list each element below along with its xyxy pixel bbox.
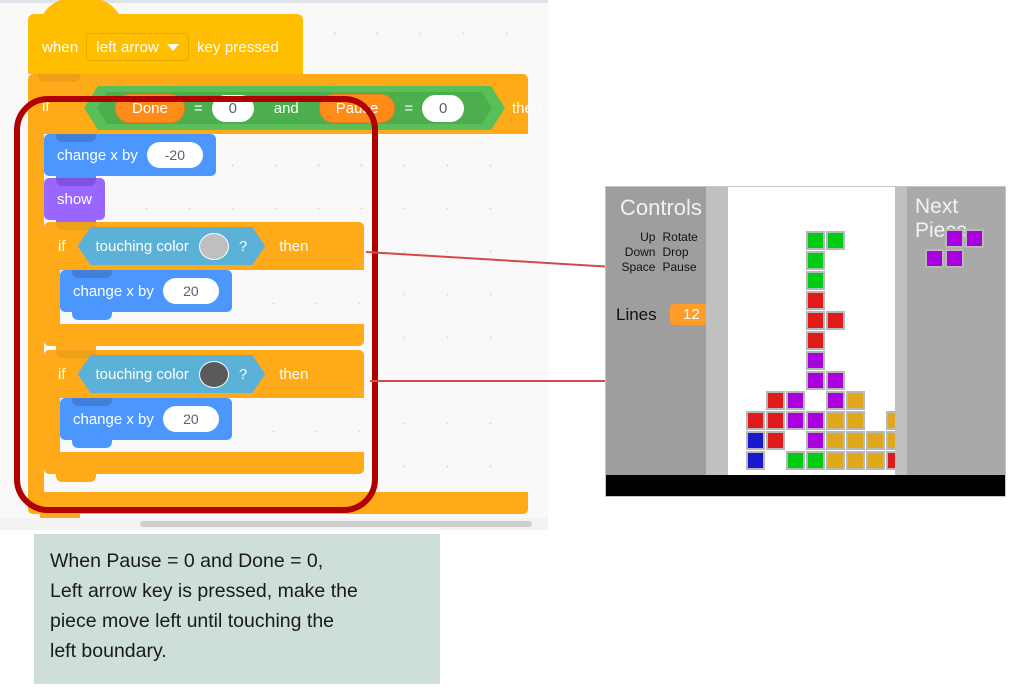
hat-block-cap [38,0,124,32]
board-right-wall [895,187,907,477]
variable-pause[interactable]: Pause [319,94,396,123]
looks-block-show[interactable]: show [44,178,105,220]
motion-block-change-x-2[interactable]: change x by 20 [60,270,232,312]
tetris-cell [786,391,805,410]
caption-line-4: left boundary. [50,636,424,666]
key-pressed-label: key pressed [197,39,279,56]
tetris-cell [826,231,845,250]
next-piece-preview [925,229,995,279]
tetris-cell [866,451,885,470]
caption-box: When Pause = 0 and Done = 0, Left arrow … [34,534,440,684]
touching-color-label-2: touching color [96,366,189,383]
block-notch [72,270,112,278]
tetris-cell [746,431,765,450]
block-notch [38,74,80,82]
motion-block-change-x-1[interactable]: change x by -20 [44,134,216,176]
equals-block-done[interactable]: Done = 0 [101,92,268,124]
tetris-cell [806,291,825,310]
control-key: Down [614,245,662,260]
equals-block-pause[interactable]: Pause = 0 [305,92,478,124]
tetris-cell [766,411,785,430]
tetris-cell [806,231,825,250]
inner-if-label-2: if [44,366,78,383]
caption-line-1: When Pause = 0 and Done = 0, [50,546,424,576]
tetris-cell [806,411,825,430]
next-piece-cell [925,249,944,268]
change-x-label-2: change x by [73,283,154,300]
question-mark-1: ? [239,238,247,255]
block-notch [56,134,96,142]
tetris-cell [806,331,825,350]
chevron-down-icon [167,44,179,51]
control-action: Drop [662,245,702,260]
tetris-cell [806,351,825,370]
operator-equals-left: = [194,100,203,117]
tetris-cell [826,371,845,390]
tetris-cell [806,431,825,450]
control-key: Up [614,230,662,245]
tetris-cell [826,451,845,470]
game-right-sidebar: Next Piece [907,187,1005,477]
tetris-cell [846,451,865,470]
tetris-cell [806,311,825,330]
motion-block-change-x-3[interactable]: change x by 20 [60,398,232,440]
tetris-cell [846,391,865,410]
if-then-block-inner-2[interactable]: if touching color ? then change x by 20 [44,350,364,474]
block-notch [56,178,96,186]
and-label: and [268,100,305,117]
sensing-touching-color-1[interactable]: touching color ? [78,227,266,265]
value-pause[interactable]: 0 [422,95,464,122]
if-then-block-outer[interactable]: if Done = 0 and Pause = 0 [28,74,528,514]
board-floor [606,475,1005,496]
next-piece-cell [965,229,984,248]
tetris-cell [786,411,805,430]
change-x-label-1: change x by [57,147,138,164]
control-row: Down Drop [614,245,702,260]
tetris-cell [746,411,765,430]
tetris-cell [826,431,845,450]
block-tab [72,311,112,320]
change-x-value-1[interactable]: -20 [147,142,203,168]
block-notch [72,398,112,406]
tetris-cell [786,451,805,470]
controls-list: Up Rotate Down Drop Space Pause [614,230,702,275]
change-x-value-3[interactable]: 20 [163,406,219,432]
lines-label: Lines [616,305,657,325]
control-row: Space Pause [614,260,702,275]
tetris-cell [826,311,845,330]
variable-done[interactable]: Done [115,94,185,123]
change-x-label-3: change x by [73,411,154,428]
horizontal-scrollbar-track[interactable] [0,518,548,530]
tetris-cell [846,411,865,430]
horizontal-scrollbar-thumb[interactable] [140,521,532,527]
control-row: Up Rotate [614,230,702,245]
if-then-block-inner-1[interactable]: if touching color ? then change x by 20 [44,222,364,346]
caption-line-2: Left arrow key is pressed, make the [50,576,424,606]
tetris-cell [806,371,825,390]
tetris-cell [746,451,765,470]
game-left-sidebar: Controls Up Rotate Down Drop Space Pause… [606,187,706,496]
control-key: Space [614,260,662,275]
outer-if-label: if [28,98,62,115]
block-tab [56,473,96,482]
caption-line-3: piece move left until touching the [50,606,424,636]
next-piece-cell [945,229,964,248]
next-piece-cell [945,249,964,268]
tetris-cell [826,391,845,410]
touching-color-label-1: touching color [96,238,189,255]
hat-block-when-key-pressed[interactable]: when left arrow key pressed [28,14,303,74]
board-left-wall [706,187,728,477]
tetris-cell [826,411,845,430]
inner-then-label-1: then [265,238,308,255]
operator-equals-right: = [404,100,413,117]
scratch-workspace[interactable]: when left arrow key pressed if Done = 0 … [0,0,548,530]
tetris-cell [766,391,785,410]
tetris-cell [846,431,865,450]
tetris-board[interactable] [728,187,895,477]
and-boolean-block[interactable]: Done = 0 and Pause = 0 [84,86,505,130]
change-x-value-2[interactable]: 20 [163,278,219,304]
inner-if-label-1: if [44,238,78,255]
sensing-touching-color-2[interactable]: touching color ? [78,355,266,393]
tetris-cell [766,431,785,450]
tetris-cell [806,271,825,290]
control-action: Pause [662,260,702,275]
control-action: Rotate [662,230,702,245]
controls-title: Controls [620,195,702,221]
color-swatch-1[interactable] [199,233,229,260]
tetris-cell [866,431,885,450]
key-dropdown-value: left arrow [96,39,159,56]
outer-then-label: then [512,100,541,117]
key-dropdown[interactable]: left arrow [86,33,189,61]
question-mark-2: ? [239,366,247,383]
tetris-cell [806,451,825,470]
value-done[interactable]: 0 [212,95,254,122]
show-label: show [57,191,92,208]
if-block-foot [28,492,528,514]
when-label: when [42,39,78,56]
tetris-cell [806,251,825,270]
tetris-game-panel[interactable]: Controls Up Rotate Down Drop Space Pause… [605,186,1006,497]
block-tab [72,439,112,448]
color-swatch-2[interactable] [199,361,229,388]
inner-then-label-2: then [265,366,308,383]
